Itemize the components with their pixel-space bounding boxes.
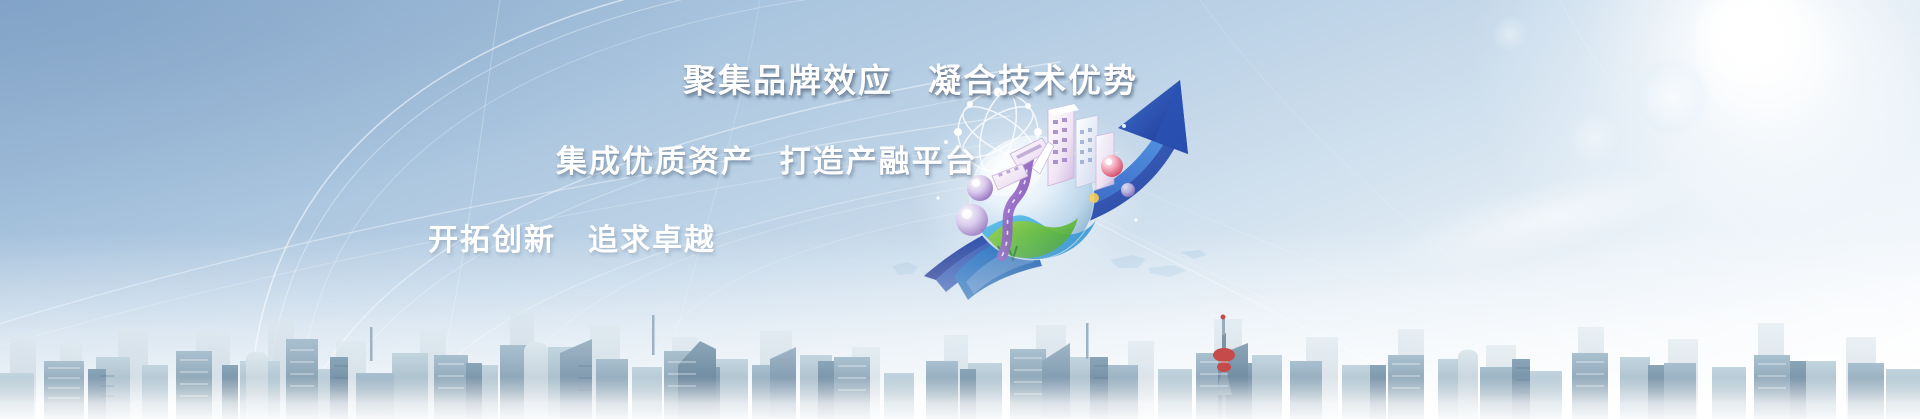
lens-flare-a-icon [1632,58,1710,136]
slogan-line-3: 开拓创新 追求卓越 [428,215,716,259]
hero-banner: 聚集品牌效应 凝合技术优势 集成优质资产 打造产融平台 开拓创新 追求卓越 [0,0,1920,419]
lens-flare-b-icon [1568,112,1620,164]
city-skyline-graphic [0,269,1920,419]
lens-flare-c-icon [1492,16,1528,52]
sun-flare-icon [1440,0,1920,290]
sun-core-icon [1690,0,1810,92]
globe-and-arrow-graphic [880,70,1220,300]
